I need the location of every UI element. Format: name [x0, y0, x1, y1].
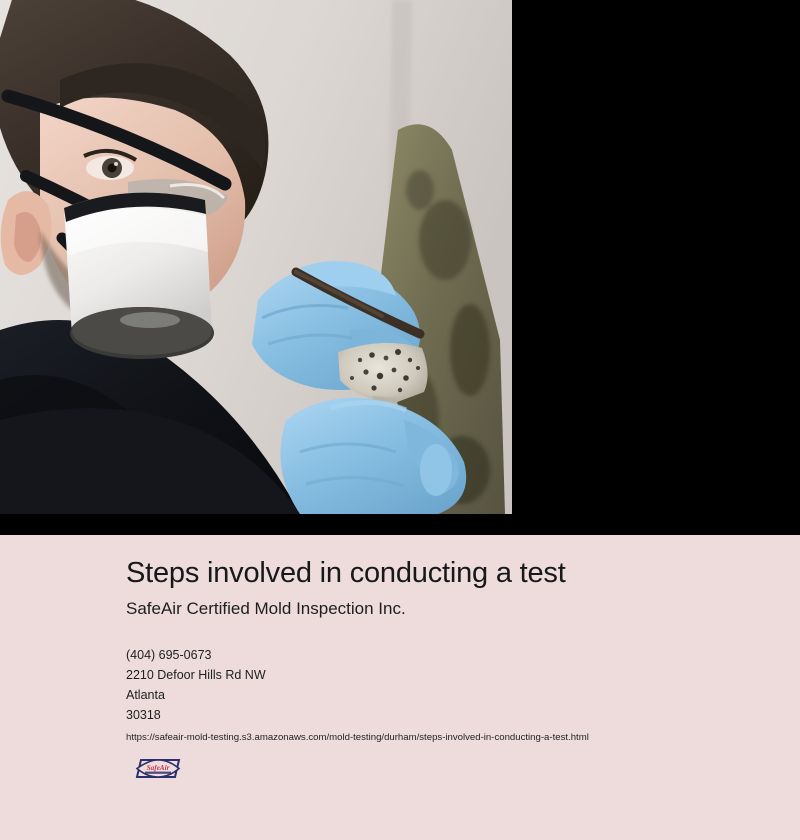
letterbox-bottom [0, 514, 512, 535]
contact-city: Atlanta [126, 685, 780, 705]
contact-block: (404) 695-0673 2210 Defoor Hills Rd NW A… [126, 645, 780, 747]
contact-zip: 30318 [126, 705, 780, 725]
company-name: SafeAir Certified Mold Inspection Inc. [126, 599, 780, 619]
safeair-logo[interactable]: SafeAir [135, 757, 181, 780]
svg-text:SafeAir: SafeAir [147, 764, 170, 772]
page-title: Steps involved in conducting a test [126, 557, 780, 589]
contact-street: 2210 Defoor Hills Rd NW [126, 665, 780, 685]
page-url[interactable]: https://safeair-mold-testing.s3.amazonaw… [126, 729, 780, 747]
hero-photo [0, 0, 512, 514]
info-content: Steps involved in conducting a test Safe… [126, 557, 780, 747]
contact-phone[interactable]: (404) 695-0673 [126, 645, 780, 665]
info-panel: Steps involved in conducting a test Safe… [0, 535, 800, 840]
hero-photo-illustration [0, 0, 512, 514]
letterbox-right [512, 0, 800, 535]
safeair-logo-mark: SafeAir [135, 757, 181, 780]
